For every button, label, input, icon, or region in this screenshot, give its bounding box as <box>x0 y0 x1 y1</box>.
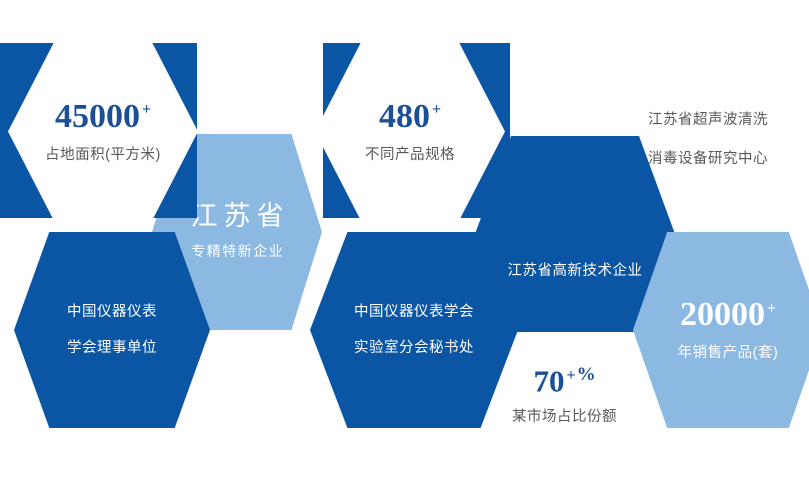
hex-instrument-council[interactable]: 中国仪器仪表 学会理事单位 <box>14 232 210 428</box>
note-research-center-line2: 消毒设备研究中心 <box>648 152 768 167</box>
market-share-superscript: + <box>566 367 575 384</box>
hex-lab-branch[interactable]: 中国仪器仪表学会 实验室分会秘书处 <box>310 232 518 428</box>
jiangsu-sme-title: 江苏省 <box>185 203 290 230</box>
instrument-council-line1: 中国仪器仪表 <box>67 305 157 320</box>
annual-sales-number: 20000 <box>680 296 765 333</box>
area-number-group: 45000+ <box>55 100 151 134</box>
note-research-center-line1: 江苏省超声波清洗 <box>648 113 768 128</box>
specs-number-group: 480+ <box>379 100 441 134</box>
lab-branch-line1: 中国仪器仪表学会 <box>354 305 474 320</box>
area-number: 45000 <box>55 98 140 135</box>
infographic-canvas: 江苏省 专精特新企业 45000+ 占地面积(平方米) 480+ 不同产品规格 … <box>0 0 809 487</box>
specs-number: 480 <box>379 98 430 135</box>
area-label: 占地面积(平方米) <box>45 143 161 164</box>
annual-sales-label: 年销售产品(套) <box>678 341 779 362</box>
high-tech-label: 江苏省高新技术企业 <box>508 264 643 279</box>
specs-label: 不同产品规格 <box>365 143 455 164</box>
jiangsu-sme-subtitle: 专精特新企业 <box>190 241 285 261</box>
instrument-council-line2: 学会理事单位 <box>67 341 157 356</box>
specs-superscript: + <box>432 101 441 118</box>
row-gap-center <box>322 218 475 232</box>
row-gap-left <box>0 218 152 232</box>
annual-sales-superscript: + <box>767 300 776 317</box>
market-share-percent: % <box>577 364 596 385</box>
market-share-label: 某市场占比份额 <box>492 405 637 426</box>
stat-market-share: 70+% 某市场占比份额 <box>492 365 637 426</box>
hex-annual-sales[interactable]: 20000+ 年销售产品(套) <box>633 232 809 428</box>
market-share-number: 70 <box>533 363 564 398</box>
annual-sales-number-group: 20000+ <box>680 298 776 332</box>
market-share-number-group: 70+% <box>492 365 637 396</box>
lab-branch-line2: 实验室分会秘书处 <box>354 341 474 356</box>
area-superscript: + <box>142 101 151 118</box>
